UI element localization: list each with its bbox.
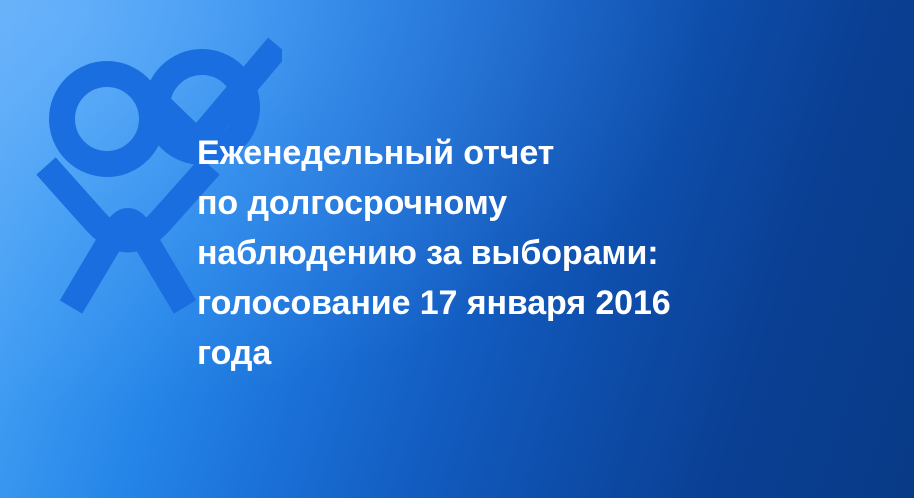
logo-legs — [71, 221, 185, 307]
logo-left-ring — [62, 74, 152, 164]
report-cover: Еженедельный отчет по долгосрочному набл… — [0, 0, 914, 498]
page-title: Еженедельный отчет по долгосрочному набл… — [197, 128, 757, 378]
